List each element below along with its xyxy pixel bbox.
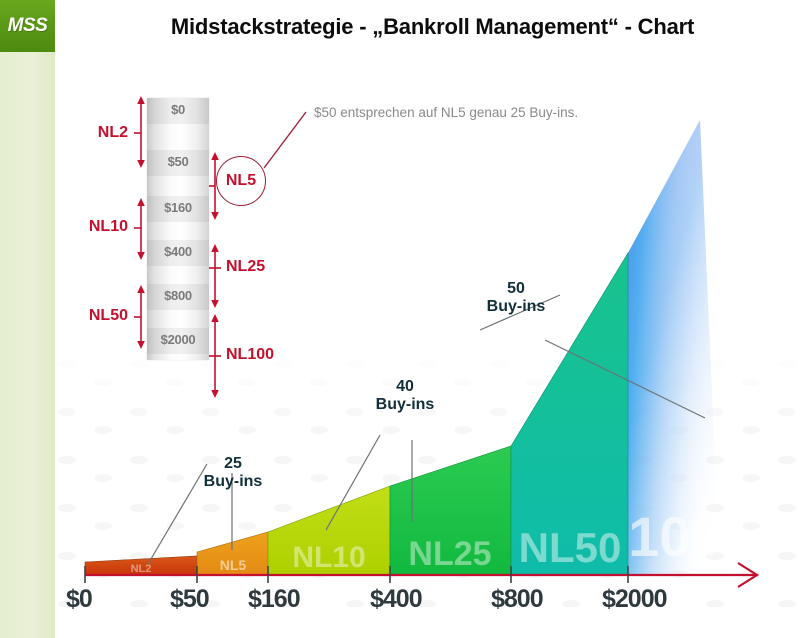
watermark-nl2: NL2: [131, 563, 152, 575]
callout-leader-line: [264, 112, 306, 168]
bracket-label-nl2: NL2: [56, 124, 128, 142]
annotation-50-number: 50: [468, 280, 564, 298]
watermark-nl25: NL25: [408, 535, 491, 573]
scale-label-50: $50: [147, 154, 209, 169]
bracket-badge-nl5: NL5: [216, 156, 266, 206]
watermark-nl100: 100: [628, 505, 721, 568]
x-tick-label-0: $0: [66, 585, 92, 614]
annotation-50-caption: Buy-ins: [468, 298, 564, 316]
scale-label-0: $0: [147, 102, 209, 117]
annotation-40-number: 40: [357, 378, 453, 396]
annotation-40-buyins: 40 Buy-ins: [357, 378, 453, 415]
bracket-label-nl25: NL25: [226, 258, 265, 276]
slide-canvas: MSS Midstackstrategie - „Bankroll Manage…: [0, 0, 800, 638]
annotation-50-buyins: 50 Buy-ins: [468, 280, 564, 317]
x-tick-label-2000: $2000: [602, 585, 667, 614]
annotation-25-caption: Buy-ins: [185, 473, 281, 491]
callout-note: $50 entsprechen auf NL5 genau 25 Buy-ins…: [314, 105, 578, 120]
x-tick-label-400: $400: [370, 585, 422, 614]
x-tick-label-800: $800: [491, 585, 543, 614]
annotation-40-caption: Buy-ins: [357, 396, 453, 414]
bracket-arrows-left: [134, 96, 145, 349]
x-tick-label-50: $50: [170, 585, 209, 614]
scale-label-800: $800: [147, 288, 209, 303]
watermark-nl10: NL10: [292, 541, 365, 574]
bracket-label-nl10: NL10: [48, 218, 128, 236]
bracket-label-nl50: NL50: [48, 307, 128, 325]
x-tick-label-160: $160: [248, 585, 300, 614]
annotation-25-number: 25: [185, 455, 281, 473]
bankroll-scale-column: $0 $50 $160 $400 $800 $2000: [147, 98, 209, 360]
watermark-nl50: NL50: [519, 524, 622, 571]
scale-label-2000: $2000: [147, 332, 209, 347]
annotation-25-buyins: 25 Buy-ins: [185, 455, 281, 492]
bracket-label-nl5: NL5: [226, 172, 256, 190]
watermark-nl5: NL5: [220, 557, 247, 573]
bracket-label-nl100: NL100: [226, 346, 274, 364]
scale-label-400: $400: [147, 244, 209, 259]
scale-label-160: $160: [147, 200, 209, 215]
